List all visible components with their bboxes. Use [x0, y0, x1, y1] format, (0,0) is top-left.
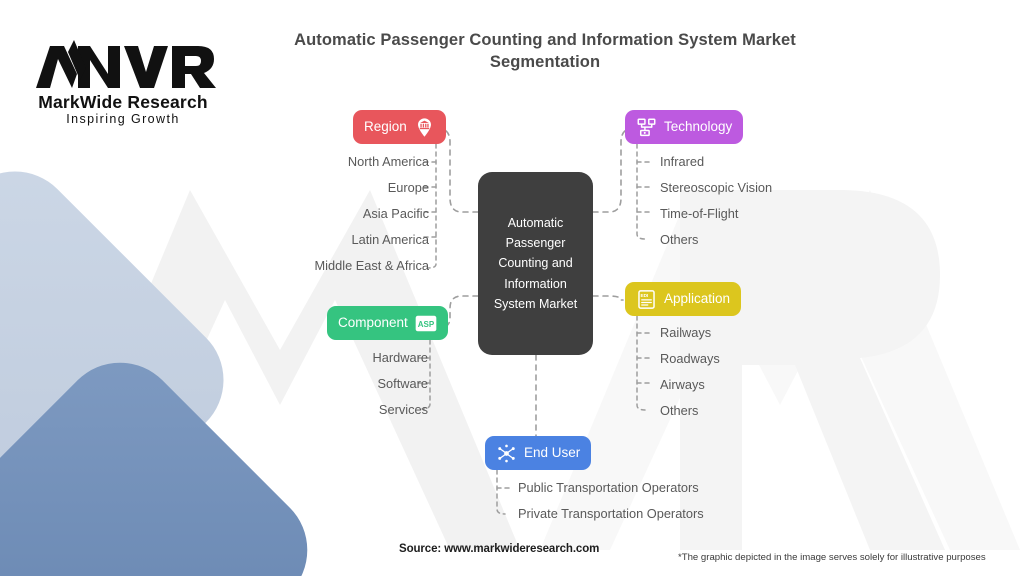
list-item: Others: [660, 405, 720, 418]
list-item: Infrared: [660, 156, 772, 169]
svg-text:ASP: ASP: [418, 319, 435, 328]
bank-pin-icon: [414, 117, 435, 138]
list-item: Airways: [660, 379, 720, 392]
disclaimer-text: *The graphic depicted in the image serve…: [678, 552, 986, 563]
list-item: Roadways: [660, 353, 720, 366]
brand-logo: MarkWide Research Inspiring Growth: [28, 28, 218, 128]
branch-items-component: Hardware Software Services: [373, 352, 428, 430]
list-item: Services: [373, 404, 428, 417]
branch-label-enduser: End User: [524, 446, 580, 460]
list-item: Public Transportation Operators: [518, 482, 704, 495]
branch-label-technology: Technology: [664, 120, 732, 134]
center-node-label: Automatic Passenger Counting and Informa…: [486, 213, 585, 314]
asp-badge-icon: ASP: [415, 315, 437, 332]
branch-pill-enduser[interactable]: End User: [485, 436, 591, 470]
logo-mark-mwr: [36, 40, 216, 88]
bg-square-light: [0, 147, 248, 576]
network-burst-icon: [496, 443, 517, 464]
branch-label-region: Region: [364, 120, 407, 134]
branch-label-application: Application: [664, 292, 730, 306]
list-item: Asia Pacific: [314, 208, 429, 221]
list-item: Private Transportation Operators: [518, 508, 704, 521]
list-item: Others: [660, 234, 772, 247]
svg-text:EDI: EDI: [640, 293, 648, 299]
branch-items-region: North America Europe Asia Pacific Latin …: [314, 156, 429, 286]
list-item: Railways: [660, 327, 720, 340]
list-item: North America: [314, 156, 429, 169]
bg-square-dark: [0, 338, 332, 576]
branch-label-component: Component: [338, 316, 408, 330]
list-item: Time-of-Flight: [660, 208, 772, 221]
branch-items-application: Railways Roadways Airways Others: [660, 327, 720, 431]
logo-tagline: Inspiring Growth: [66, 112, 179, 126]
list-item: Middle East & Africa: [314, 260, 429, 273]
branch-pill-technology[interactable]: Technology: [625, 110, 743, 144]
branch-items-technology: Infrared Stereoscopic Vision Time-of-Fli…: [660, 156, 772, 260]
list-item: Hardware: [373, 352, 428, 365]
source-label: Source: www.markwideresearch.com: [399, 543, 599, 555]
list-item: Latin America: [314, 234, 429, 247]
list-item: Europe: [314, 182, 429, 195]
infographic-canvas: MarkWide Research Inspiring Growth Autom…: [0, 0, 1024, 576]
edi-document-icon: EDI: [636, 289, 657, 310]
page-title: Automatic Passenger Counting and Informa…: [262, 30, 828, 74]
list-item: Stereoscopic Vision: [660, 182, 772, 195]
branch-pill-component[interactable]: Component ASP: [327, 306, 448, 340]
list-item: Software: [373, 378, 428, 391]
center-node: Automatic Passenger Counting and Informa…: [478, 172, 593, 355]
branch-items-enduser: Public Transportation Operators Private …: [518, 482, 704, 534]
branch-pill-application[interactable]: EDI Application: [625, 282, 741, 316]
branch-pill-region[interactable]: Region: [353, 110, 446, 144]
logo-company-name: MarkWide Research: [38, 92, 208, 112]
device-network-icon: [636, 117, 657, 138]
